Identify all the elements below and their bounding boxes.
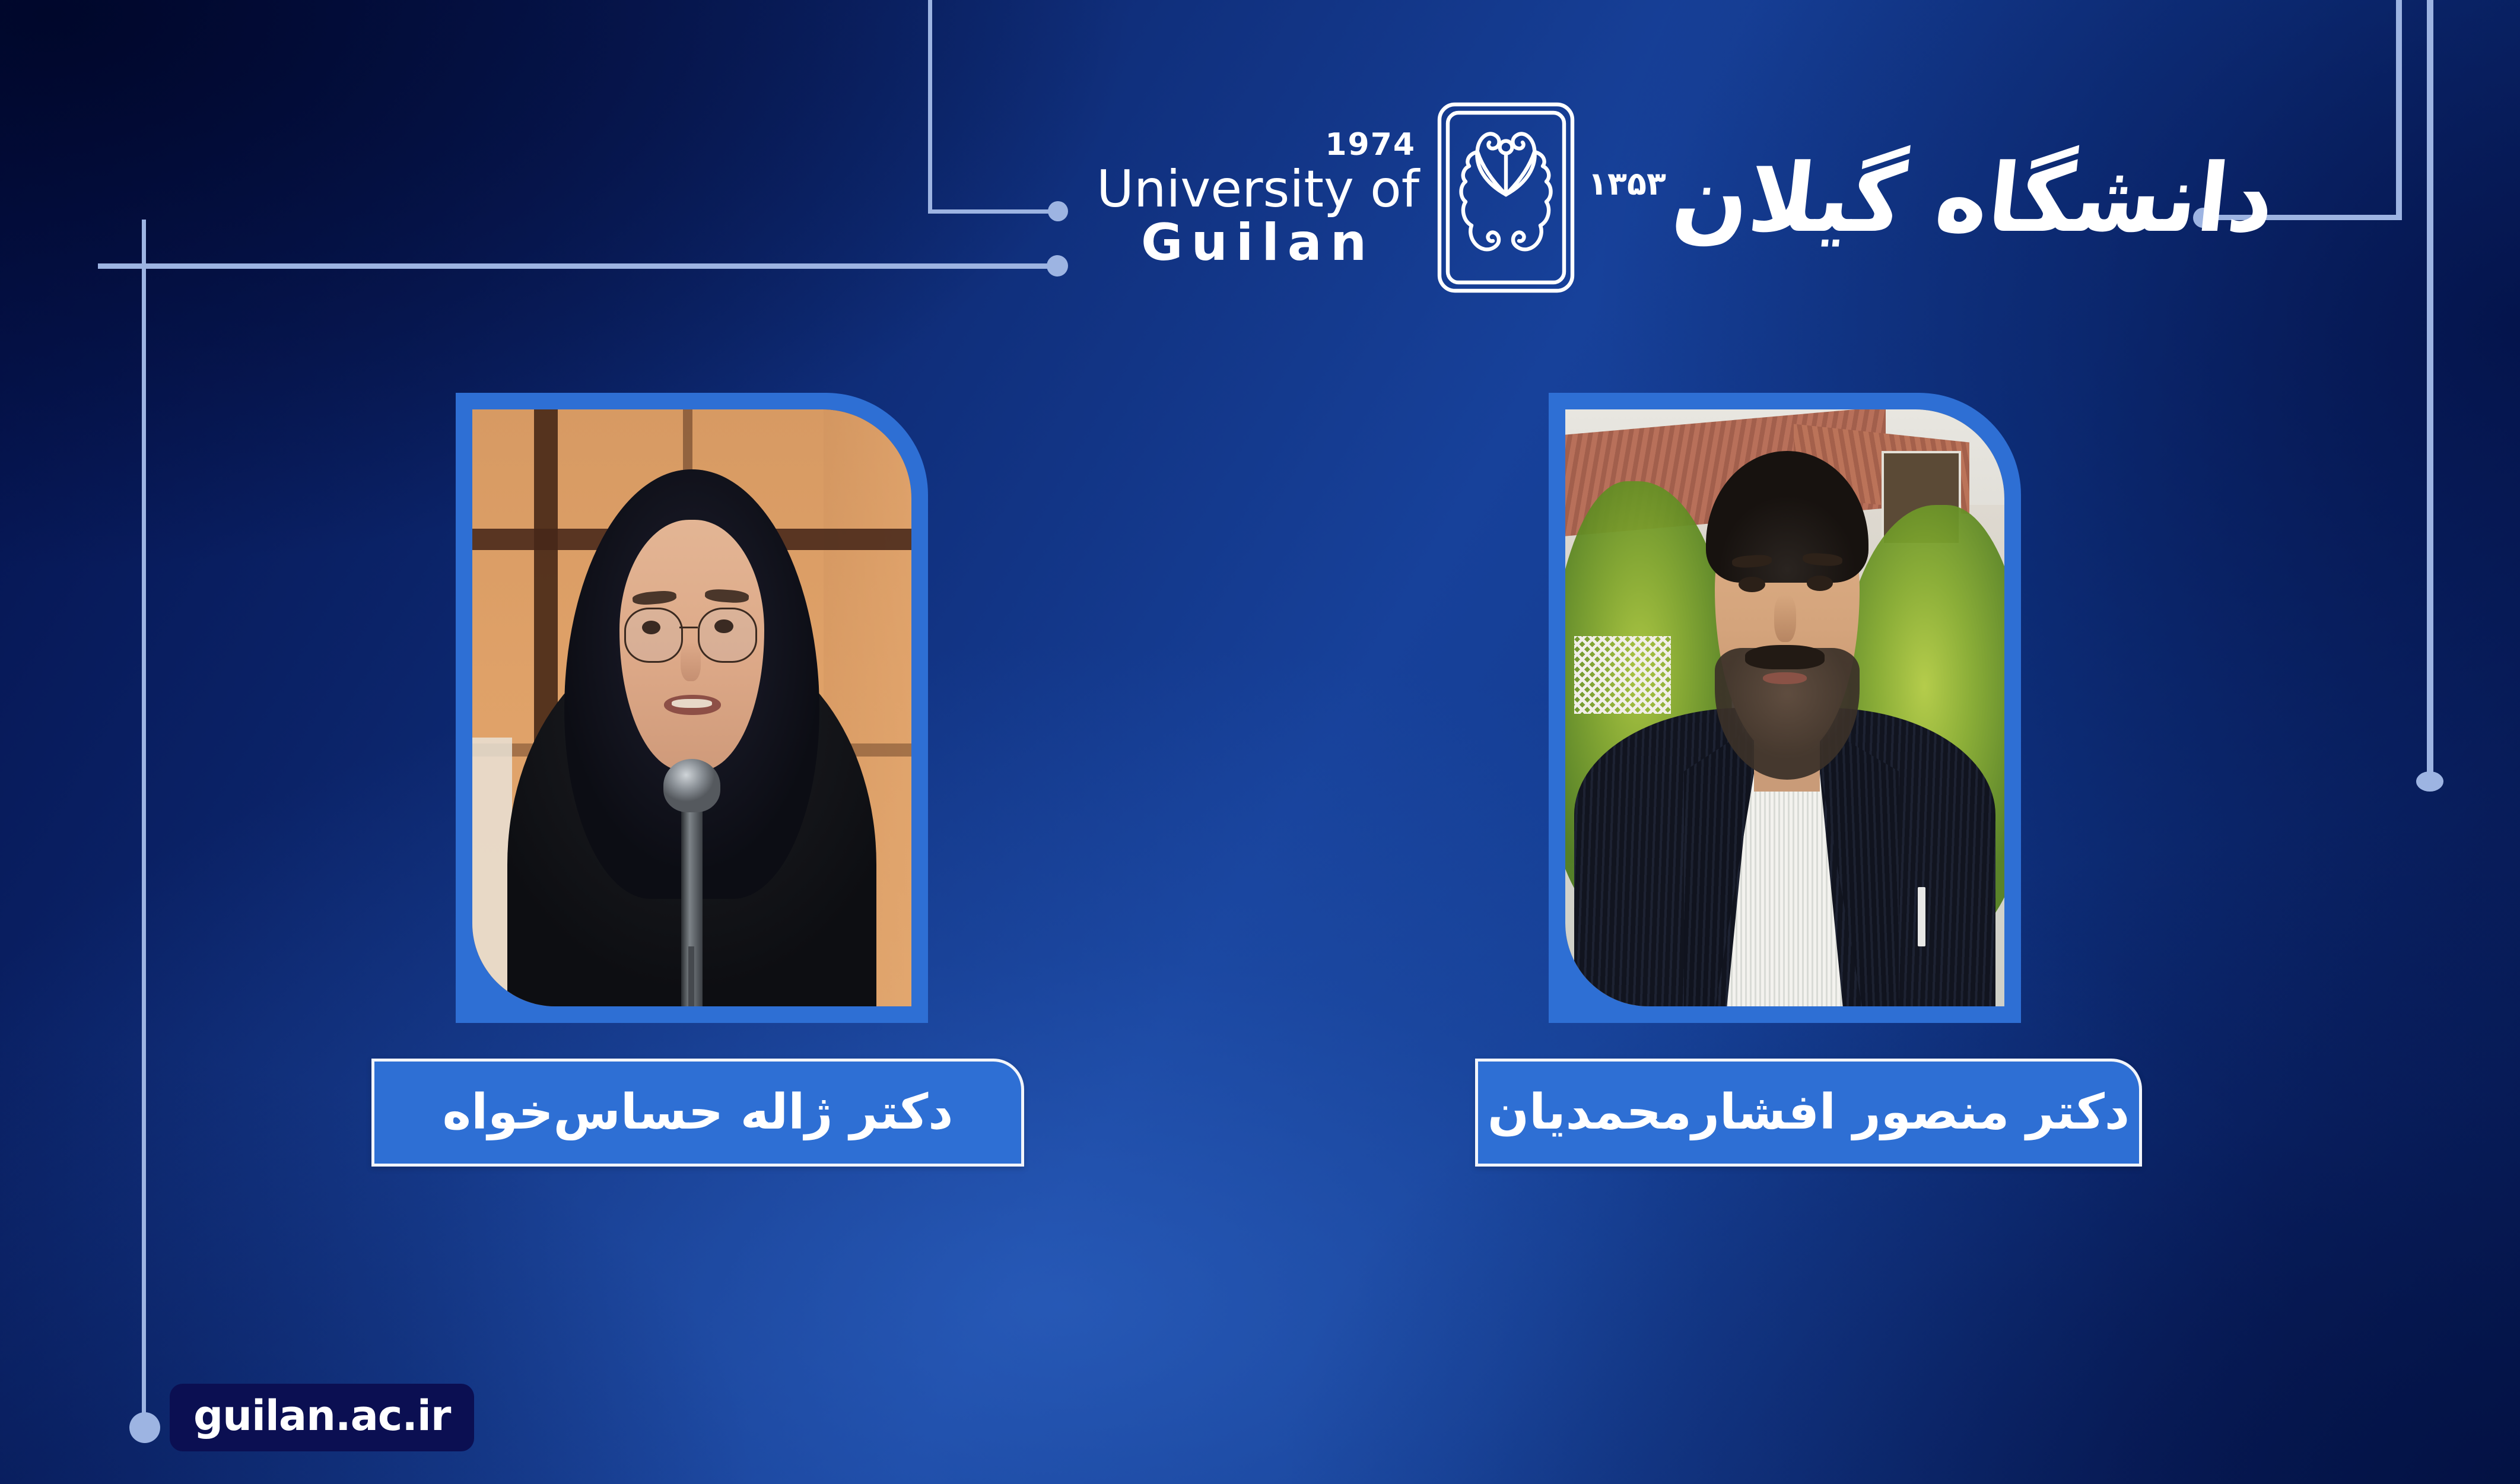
- guilan-butterfly-emblem-icon: [1435, 100, 1577, 298]
- decor-dot-far-right: [2416, 771, 2443, 792]
- decor-line-left-vertical: [142, 220, 146, 1427]
- name-plate-right-label: دکتر منصور افشارمحمدیان: [1488, 1088, 2130, 1137]
- website-url-badge[interactable]: guilan.ac.ir: [170, 1384, 474, 1451]
- banner-canvas: 1974 University of Guilan ۱۳۵: [0, 0, 2520, 1484]
- name-plate-left-label: دکتر ژاله حساس‌خواه: [443, 1088, 954, 1137]
- decor-line-top-horizontal: [928, 209, 1051, 214]
- university-logo: 1974 University of Guilan ۱۳۵: [1222, 89, 2148, 309]
- logo-english-text: 1974 University of Guilan: [1097, 129, 1419, 268]
- decor-line-top-vertical: [928, 0, 932, 214]
- logo-year-gregorian: 1974: [1097, 129, 1419, 160]
- decor-dot-long-horizontal-end: [1047, 255, 1068, 277]
- decor-line-right-vertical: [2396, 0, 2402, 220]
- logo-university-of: University of: [1097, 164, 1419, 215]
- portrait-frame-right: [1549, 393, 2021, 1023]
- logo-guilan: Guilan: [1097, 217, 1419, 268]
- decor-dot-bottom-left: [129, 1412, 160, 1443]
- portrait-zhaleh-hassaskhah: [472, 409, 911, 1006]
- name-plate-right: دکتر منصور افشارمحمدیان: [1475, 1059, 2142, 1167]
- logo-year-persian: ۱۳۵۳: [1588, 165, 1666, 202]
- name-plate-left: دکتر ژاله حساس‌خواه: [371, 1059, 1024, 1167]
- decor-line-long-horizontal: [98, 263, 1053, 269]
- portrait-right-artwork: [1565, 409, 2004, 1006]
- website-url-text: guilan.ac.ir: [193, 1391, 450, 1440]
- decor-line-far-right-vertical: [2427, 0, 2433, 783]
- logo-persian-name: دانشگاه گیلان: [1669, 152, 2279, 246]
- portrait-mansour-afsharmohammadian: [1565, 409, 2004, 1006]
- decor-dot-top: [1048, 201, 1068, 221]
- portrait-left-artwork: [472, 409, 911, 1006]
- logo-persian-text: ۱۳۵۳ دانشگاه گیلان: [1588, 154, 2274, 243]
- portrait-frame-left: [456, 393, 928, 1023]
